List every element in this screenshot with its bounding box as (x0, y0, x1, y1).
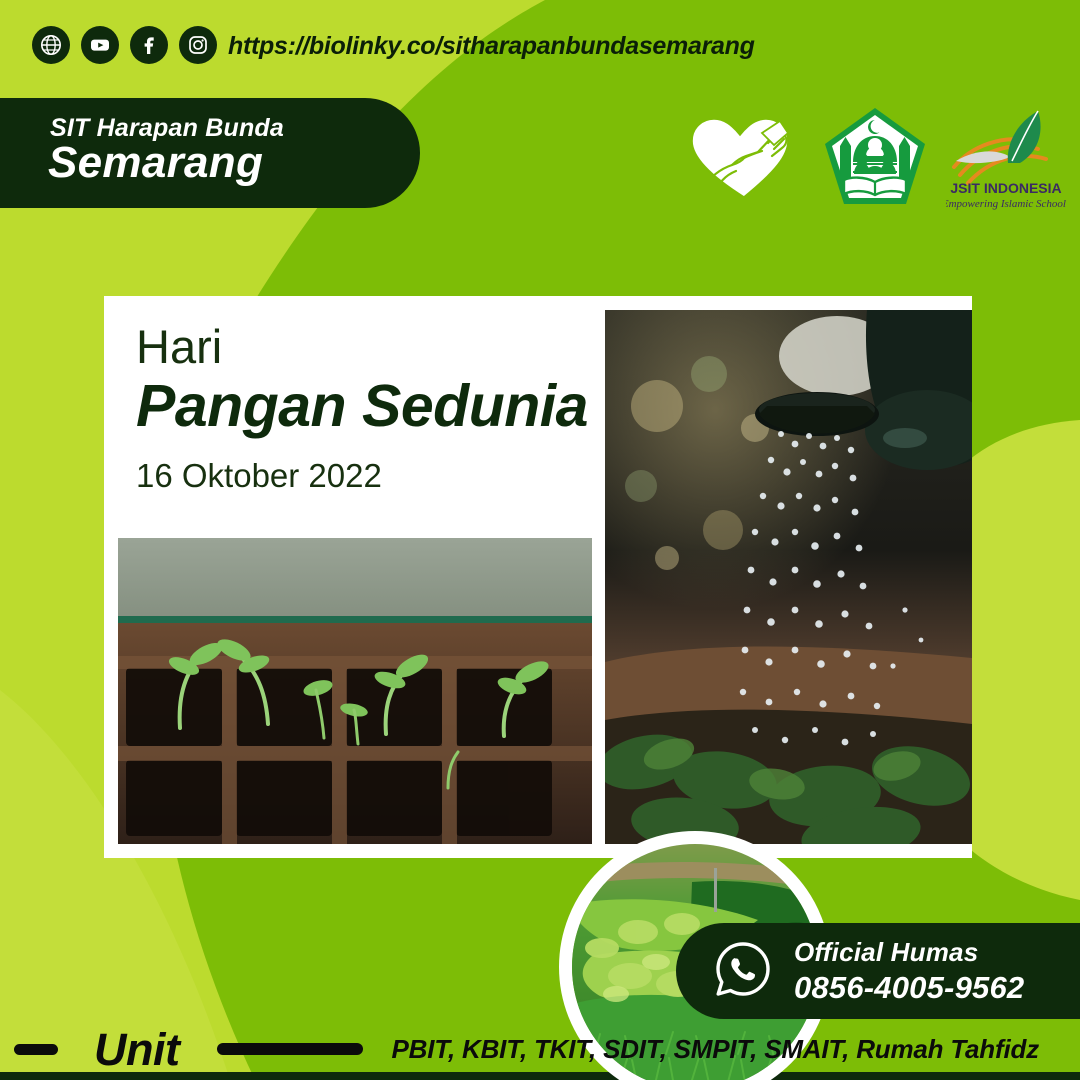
jsit-indonesia-logo: JSIT INDONESIA Empowering Islamic School… (946, 105, 1066, 213)
event-date: 16 Oktober 2022 (136, 457, 588, 495)
photo-seedling-tray (118, 538, 592, 844)
facebook-glyph-icon (137, 33, 161, 57)
photo-watering-can (605, 310, 972, 844)
jsit-title: JSIT INDONESIA (950, 180, 1061, 196)
content-card: Hari Pangan Sedunia 16 Oktober 2022 (104, 296, 972, 858)
school-name-badge: SIT Harapan Bunda Semarang (0, 98, 420, 208)
footer-heading: Unit (94, 1027, 179, 1072)
footer-bar: Unit PBIT, KBIT, TKIT, SDIT, SMPIT, SMAI… (0, 1018, 1080, 1080)
event-eyebrow: Hari (136, 322, 588, 371)
hand-heart-icon (684, 111, 804, 207)
hand-heart-logo (684, 111, 804, 207)
site-url[interactable]: https://biolinky.co/sitharapanbundasemar… (228, 32, 755, 61)
social-links (32, 26, 217, 64)
whatsapp-glyph-icon (714, 940, 772, 998)
event-title: Pangan Sedunia (136, 375, 588, 439)
jsit-tagline: Empowering Islamic Schools (946, 198, 1066, 210)
contact-phone: 0856-4005-9562 (794, 970, 1024, 1006)
footer-dash-small (14, 1044, 58, 1055)
whatsapp-text-block: Official Humas 0856-4005-9562 (794, 937, 1024, 1006)
poster-canvas: https://biolinky.co/sitharapanbundasemar… (0, 0, 1080, 1080)
footer-dash-large (217, 1043, 363, 1055)
watering-can-illustration (605, 310, 972, 844)
school-name-line2: Semarang (48, 138, 263, 188)
whatsapp-icon (714, 940, 772, 1003)
seedling-illustration (118, 538, 592, 844)
youtube-icon[interactable] (81, 26, 119, 64)
instagram-glyph-icon (186, 33, 210, 57)
logo-group: JSIT INDONESIA Empowering Islamic School… (684, 104, 1066, 214)
jsit-quill-icon: JSIT INDONESIA Empowering Islamic School… (946, 105, 1066, 213)
youtube-glyph-icon (88, 33, 112, 57)
globe-icon (39, 33, 63, 57)
facebook-icon[interactable] (130, 26, 168, 64)
website-icon[interactable] (32, 26, 70, 64)
whatsapp-contact-badge[interactable]: Official Humas 0856-4005-9562 (676, 923, 1080, 1019)
madrasah-pentagon-logo (820, 104, 930, 214)
contact-label: Official Humas (794, 937, 1024, 968)
card-heading-block: Hari Pangan Sedunia 16 Oktober 2022 (136, 322, 588, 495)
instagram-icon[interactable] (179, 26, 217, 64)
madrasah-emblem-icon (820, 104, 930, 214)
footer-unit-list: PBIT, KBIT, TKIT, SDIT, SMPIT, SMAIT, Ru… (391, 1034, 1038, 1065)
